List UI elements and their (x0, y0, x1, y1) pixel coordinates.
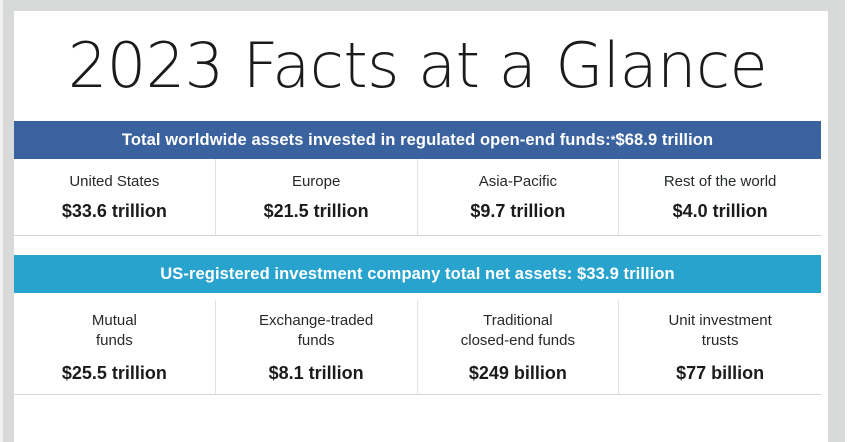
page-frame-left (3, 0, 14, 442)
stat-value: $249 billion (469, 363, 567, 384)
stat-value: $8.1 trillion (269, 363, 364, 384)
page-title: 2023 Facts at a Glance (14, 11, 821, 121)
stats-grid-us-registered: Mutual funds $25.5 trillion Exchange-tra… (14, 300, 821, 394)
page-sheet: 2023 Facts at a Glance Total worldwide a… (14, 11, 821, 442)
stat-label: Unit investment trusts (668, 311, 771, 351)
stat-label: Exchange-traded funds (259, 311, 373, 351)
stat-cell-exchange-traded-funds: Exchange-traded funds $8.1 trillion (216, 300, 418, 394)
stat-cell-unit-investment-trusts: Unit investment trusts $77 billion (619, 300, 821, 394)
stat-value: $21.5 trillion (264, 201, 369, 222)
stat-label: Europe (292, 172, 340, 192)
banner-text-main: Total worldwide assets invested in regul… (122, 131, 611, 150)
stat-value: $77 billion (676, 363, 764, 384)
stat-label: United States (69, 172, 159, 192)
stat-cell-europe: Europe $21.5 trillion (216, 159, 418, 235)
banner-text-value: $68.9 trillion (615, 131, 713, 150)
stat-cell-united-states: United States $33.6 trillion (14, 159, 216, 235)
stat-label: Asia-Pacific (479, 172, 557, 192)
stat-label: Traditional closed-end funds (461, 311, 575, 351)
stat-value: $25.5 trillion (62, 363, 167, 384)
stat-value: $9.7 trillion (470, 201, 565, 222)
page-frame-top (3, 0, 845, 11)
document-viewport: 2023 Facts at a Glance Total worldwide a… (0, 0, 862, 442)
stat-value: $33.6 trillion (62, 201, 167, 222)
stats-grid-worldwide: United States $33.6 trillion Europe $21.… (14, 159, 821, 235)
page-bottom-spacer (14, 395, 821, 417)
page-outer-right-shadow (845, 0, 862, 442)
stat-cell-rest-of-the-world: Rest of the world $4.0 trillion (619, 159, 821, 235)
stat-label: Rest of the world (664, 172, 777, 192)
stat-cell-mutual-funds: Mutual funds $25.5 trillion (14, 300, 216, 394)
section-banner-us-registered: US-registered investment company total n… (14, 255, 821, 293)
stat-value: $4.0 trillion (673, 201, 768, 222)
banner-text-main: US-registered investment company total n… (160, 265, 675, 284)
stat-label: Mutual funds (92, 311, 137, 351)
section-banner-worldwide-assets: Total worldwide assets invested in regul… (14, 121, 821, 159)
grid-top-gap (14, 293, 821, 300)
page-frame-right (828, 0, 845, 442)
stat-cell-asia-pacific: Asia-Pacific $9.7 trillion (418, 159, 620, 235)
section-gap (14, 236, 821, 255)
stat-cell-traditional-closed-end-funds: Traditional closed-end funds $249 billio… (418, 300, 620, 394)
